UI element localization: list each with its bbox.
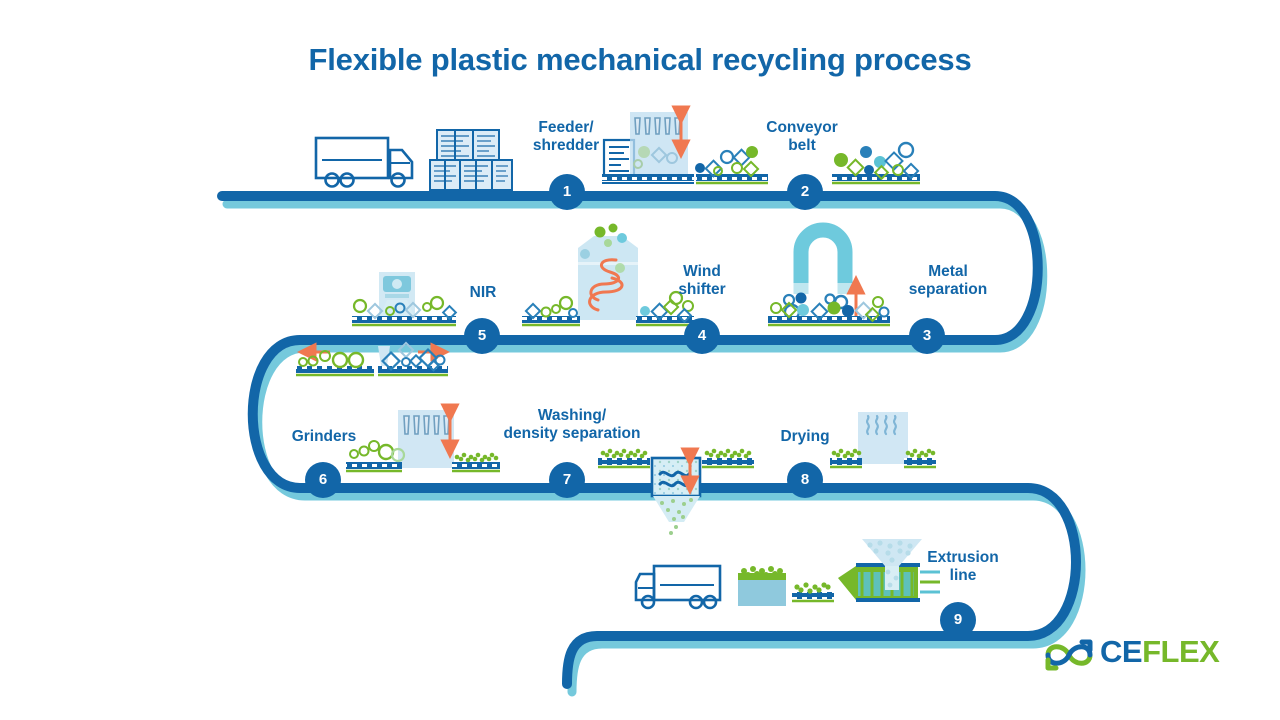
infographic-canvas: Flexible plastic mechanical recycling pr… <box>0 0 1280 720</box>
step-label-metal-separation: Metal separation <box>884 263 1012 299</box>
step-label-drying: Drying <box>760 428 850 446</box>
step-5-icon-nir-scanner <box>352 272 456 325</box>
step-label-wind-shifter: Wind shifter <box>650 263 754 299</box>
step-circle-4[interactable] <box>684 318 720 354</box>
step-circle-9[interactable] <box>940 602 976 638</box>
step-circle-6[interactable] <box>305 462 341 498</box>
step-9-icon-extruder <box>636 539 940 608</box>
step-label-grinders: Grinders <box>276 428 372 446</box>
process-flow-diagram <box>0 0 1280 720</box>
outbound-truck-icon <box>636 566 720 608</box>
logo-text-flex: FLEX <box>1142 634 1219 669</box>
step-label-washing-density-separation: Washing/ density separation <box>498 407 646 443</box>
step-circle-5[interactable] <box>464 318 500 354</box>
step-label-nir: NIR <box>445 284 521 302</box>
step-circle-7[interactable] <box>549 462 585 498</box>
step-label-feeder-shredder: Feeder/ shredder <box>508 119 624 155</box>
step-label-conveyor-belt: Conveyor belt <box>748 119 856 155</box>
ceflex-logo[interactable]: CEFLEX <box>1038 632 1234 678</box>
intake-truck-icon <box>316 138 412 187</box>
step-circle-2[interactable] <box>787 174 823 210</box>
step-1-icon-shredder <box>602 112 768 183</box>
step-label-extrusion-line: Extrusion line <box>912 549 1014 585</box>
pellet-bin-icon <box>738 566 786 606</box>
logo-text-ce: CE <box>1100 634 1142 669</box>
stacked-bales-icon <box>430 130 512 190</box>
step-circle-1[interactable] <box>549 174 585 210</box>
logo-wordmark: CEFLEX <box>1100 634 1219 670</box>
step-circle-3[interactable] <box>909 318 945 354</box>
step-3-icon-magnet <box>768 230 890 325</box>
step-circle-8[interactable] <box>787 462 823 498</box>
